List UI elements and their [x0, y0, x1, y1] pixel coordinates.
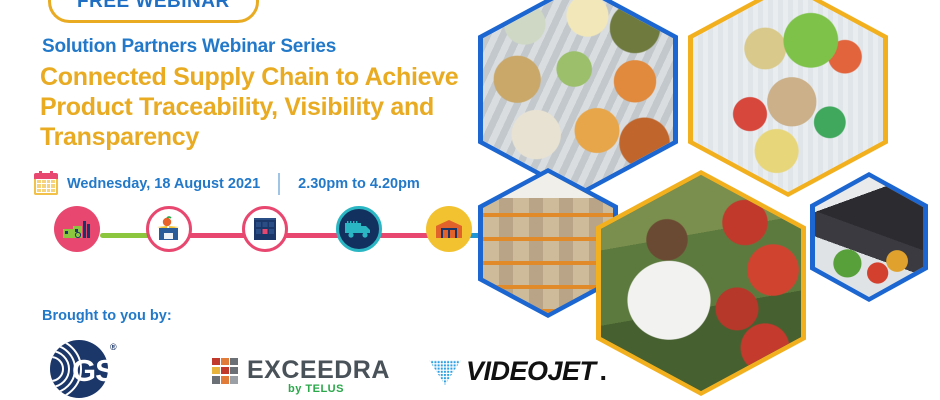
exceedra-tagline: by TELUS — [288, 383, 344, 395]
exceedra-logo-text: EXCEEDRA — [247, 356, 390, 385]
supply-chain-node-factory — [54, 206, 100, 252]
delivery-truck-icon — [344, 219, 374, 239]
supply-chain-node-distribution — [336, 206, 382, 252]
gs1-logo-text: GS1 — [72, 355, 131, 386]
supply-chain-node-storage — [242, 206, 288, 252]
supply-chain-strip — [30, 206, 490, 264]
webinar-series-label: Solution Partners Webinar Series — [42, 36, 336, 58]
schedule-time: 2.30pm to 4.20pm — [298, 176, 420, 192]
gs1-logo: GS1 ® — [44, 338, 144, 400]
free-webinar-badge: FREE WEBINAR — [48, 0, 259, 23]
chain-connector-1 — [100, 233, 150, 238]
hex-photo-grocery-cart — [688, 0, 888, 197]
exceedra-bars-icon — [212, 358, 238, 384]
hex-photo-collage — [470, 0, 940, 400]
schedule-separator — [278, 173, 280, 195]
factory-icon — [62, 218, 92, 240]
exceedra-logo: EXCEEDRA — [212, 356, 390, 385]
chain-connector-2 — [185, 233, 247, 238]
chain-connector-3 — [282, 233, 342, 238]
storage-rack-icon — [252, 216, 278, 242]
calendar-icon — [34, 172, 58, 196]
chain-connector-4 — [378, 233, 432, 238]
sponsors-heading: Brought to you by: — [42, 308, 172, 324]
schedule-row: Wednesday, 18 August 2021 2.30pm to 4.20… — [34, 172, 420, 196]
banner-text-column: FREE WEBINAR Solution Partners Webinar S… — [0, 0, 500, 400]
page-title: Connected Supply Chain to Achieve Produc… — [40, 62, 490, 152]
gs1-registered-mark: ® — [110, 342, 117, 352]
webinar-banner: FREE WEBINAR Solution Partners Webinar S… — [0, 0, 940, 400]
hex-photo-packing-vegetables — [810, 172, 928, 302]
hex-photo-prepared-meals — [478, 0, 678, 197]
supply-chain-node-packing — [146, 206, 192, 252]
videojet-v-mark — [428, 358, 462, 386]
supply-chain-node-warehouse — [426, 206, 472, 252]
schedule-date: Wednesday, 18 August 2021 — [67, 176, 260, 192]
warehouse-icon — [434, 218, 464, 240]
free-webinar-badge-label: FREE WEBINAR — [77, 0, 230, 12]
hex-photo-greenhouse-tomatoes — [596, 170, 806, 396]
packing-box-icon — [155, 216, 183, 242]
